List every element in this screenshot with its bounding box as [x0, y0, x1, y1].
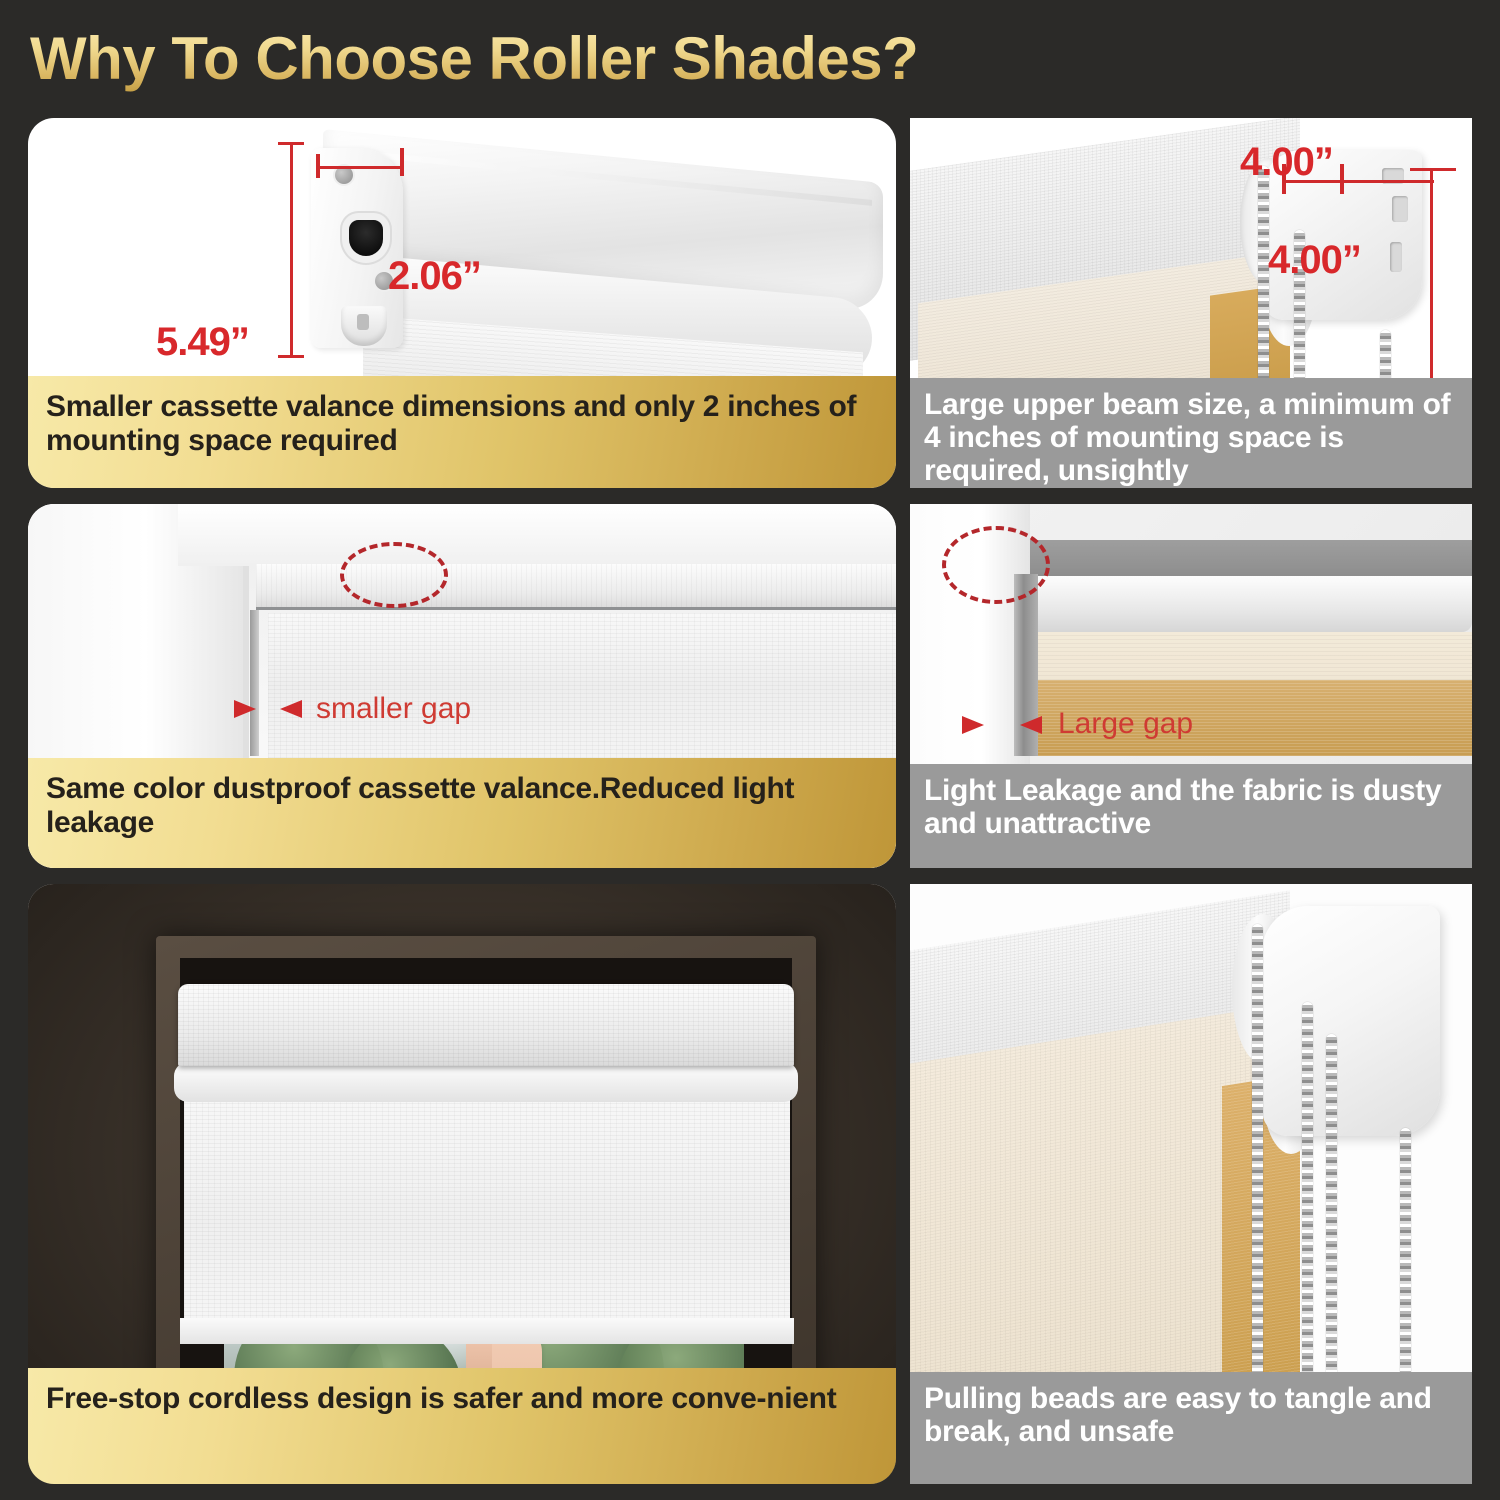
panel-light-leakage: Large gap Light Leakage and the fabric i… [910, 504, 1472, 868]
cassette-assembly [293, 126, 893, 376]
height-dimension-label: 5.49” [156, 320, 249, 365]
panel-6-caption: Pulling beads are easy to tangle and bre… [910, 1372, 1472, 1484]
window-frame-top [178, 504, 896, 566]
dimension-line-vertical [1430, 168, 1433, 398]
panel-pulling-beads: Pulling beads are easy to tangle and bre… [910, 884, 1472, 1484]
cassette-clip [341, 306, 387, 346]
seam-highlight-ellipse [340, 542, 448, 608]
panel-cordless-design: Free-stop cordless design is safer and m… [28, 884, 896, 1484]
panel-large-upper-beam: 4.00” 4.00” Large upper beam size, a min… [910, 118, 1472, 488]
dimension-tick-bottom [278, 355, 304, 358]
infographic-root: Why To Choose Roller Shades? 5.49” [0, 0, 1500, 1500]
seam-highlight-ellipse [942, 526, 1050, 604]
shade-fabric [268, 613, 896, 758]
bracket-slot [1392, 196, 1408, 222]
beam-width-label: 4.00” [1240, 140, 1333, 185]
panel-3-caption: Same color dustproof cassette valance.Re… [28, 758, 896, 868]
cassette-valance [178, 984, 794, 1066]
valance-lip [174, 1062, 798, 1102]
cassette-hole [349, 220, 383, 256]
panel-1-caption: Smaller cassette valance dimensions and … [28, 376, 896, 488]
bracket-slot [1390, 242, 1402, 272]
gap-arrow-right [962, 716, 984, 734]
panel-4-caption: Light Leakage and the fabric is dusty an… [910, 764, 1472, 868]
panel-2-caption: Large upper beam size, a minimum of 4 in… [910, 378, 1472, 488]
shade-bottom-rail [180, 1318, 794, 1344]
dimension-line-vertical [290, 142, 293, 358]
panel-dustproof-valance: smaller gap Same color dustproof cassett… [28, 504, 896, 868]
side-gap [250, 610, 259, 756]
page-title: Why To Choose Roller Shades? [30, 24, 1130, 96]
width-dimension-label: 2.06” [388, 254, 481, 299]
smaller-gap-label: smaller gap [316, 692, 471, 726]
dimension-tick-top [278, 142, 304, 145]
gap-arrow-left [280, 700, 302, 718]
dimension-tick-mid [1340, 164, 1344, 194]
dimension-line-horizontal [316, 166, 404, 169]
gap-arrow-left [1020, 716, 1042, 734]
dimension-tick-top [1410, 168, 1456, 171]
roller-tube [1022, 576, 1472, 632]
beam-height-label: 4.00” [1268, 238, 1361, 283]
panel-smaller-cassette: 5.49” 2.06” Smaller cassette valance dim… [28, 118, 896, 488]
shade-fabric [184, 1098, 790, 1328]
cassette-end-cap [311, 148, 403, 348]
mounting-bracket [1262, 906, 1440, 1136]
dimension-tick-left [316, 154, 320, 178]
large-gap-label: Large gap [1058, 707, 1193, 741]
gap-arrow-right [234, 700, 256, 718]
panel-5-caption: Free-stop cordless design is safer and m… [28, 1368, 896, 1484]
dimension-tick-right [400, 148, 404, 176]
